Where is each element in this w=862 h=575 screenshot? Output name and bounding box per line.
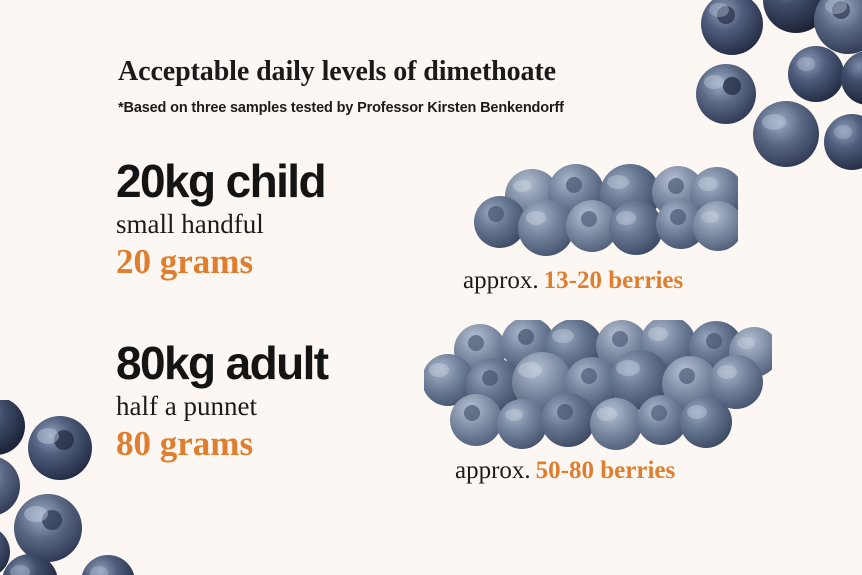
caption-child-prefix: approx. bbox=[463, 267, 539, 294]
stat-block-adult: 80kg adult half a punnet 80 grams bbox=[116, 340, 328, 464]
blueberry-cluster-large-image bbox=[424, 320, 772, 452]
blueberry-cluster-small-image bbox=[470, 162, 738, 262]
page-subtitle: *Based on three samples tested by Profes… bbox=[118, 100, 564, 116]
stat-amount-child: 20 grams bbox=[116, 242, 325, 282]
caption-adult-count: 50-80 berries bbox=[536, 457, 676, 484]
page-title: Acceptable daily levels of dimethoate bbox=[118, 56, 556, 88]
stat-amount-adult: 80 grams bbox=[116, 424, 328, 464]
blueberry-scatter-top-right-icon bbox=[686, 0, 862, 172]
stat-description-child: small handful bbox=[116, 208, 325, 241]
stat-heading-child: 20kg child bbox=[116, 158, 325, 206]
stat-description-adult: half a punnet bbox=[116, 390, 328, 423]
infographic-canvas: Acceptable daily levels of dimethoate *B… bbox=[0, 0, 862, 575]
caption-adult: approx.50-80 berries bbox=[455, 457, 675, 485]
stat-block-child: 20kg child small handful 20 grams bbox=[116, 158, 325, 282]
caption-child: approx.13-20 berries bbox=[463, 267, 683, 295]
caption-child-count: 13-20 berries bbox=[544, 267, 684, 294]
stat-heading-adult: 80kg adult bbox=[116, 340, 328, 388]
caption-adult-prefix: approx. bbox=[455, 457, 531, 484]
